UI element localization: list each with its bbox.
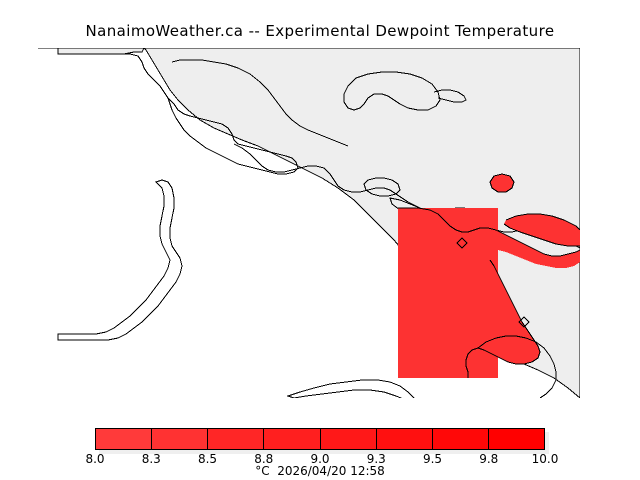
map-canvas[interactable] [38, 48, 580, 398]
colorbar-segment[interactable] [489, 429, 544, 449]
colorbar-caption: °C 2026/04/20 12:58 [0, 464, 640, 478]
page-title: NanaimoWeather.ca -- Experimental Dewpoi… [0, 22, 640, 40]
dewpoint-region-bulk[interactable] [398, 208, 498, 378]
colorbar[interactable] [95, 428, 545, 450]
colorbar-segment[interactable] [377, 429, 433, 449]
colorbar-segment[interactable] [208, 429, 264, 449]
colorbar-segment[interactable] [433, 429, 489, 449]
colorbar-gradient[interactable] [95, 428, 545, 450]
colorbar-segment[interactable] [96, 429, 152, 449]
colorbar-segment[interactable] [321, 429, 377, 449]
colorbar-segment[interactable] [152, 429, 208, 449]
colorbar-segment[interactable] [264, 429, 320, 449]
weather-map[interactable] [38, 48, 580, 398]
